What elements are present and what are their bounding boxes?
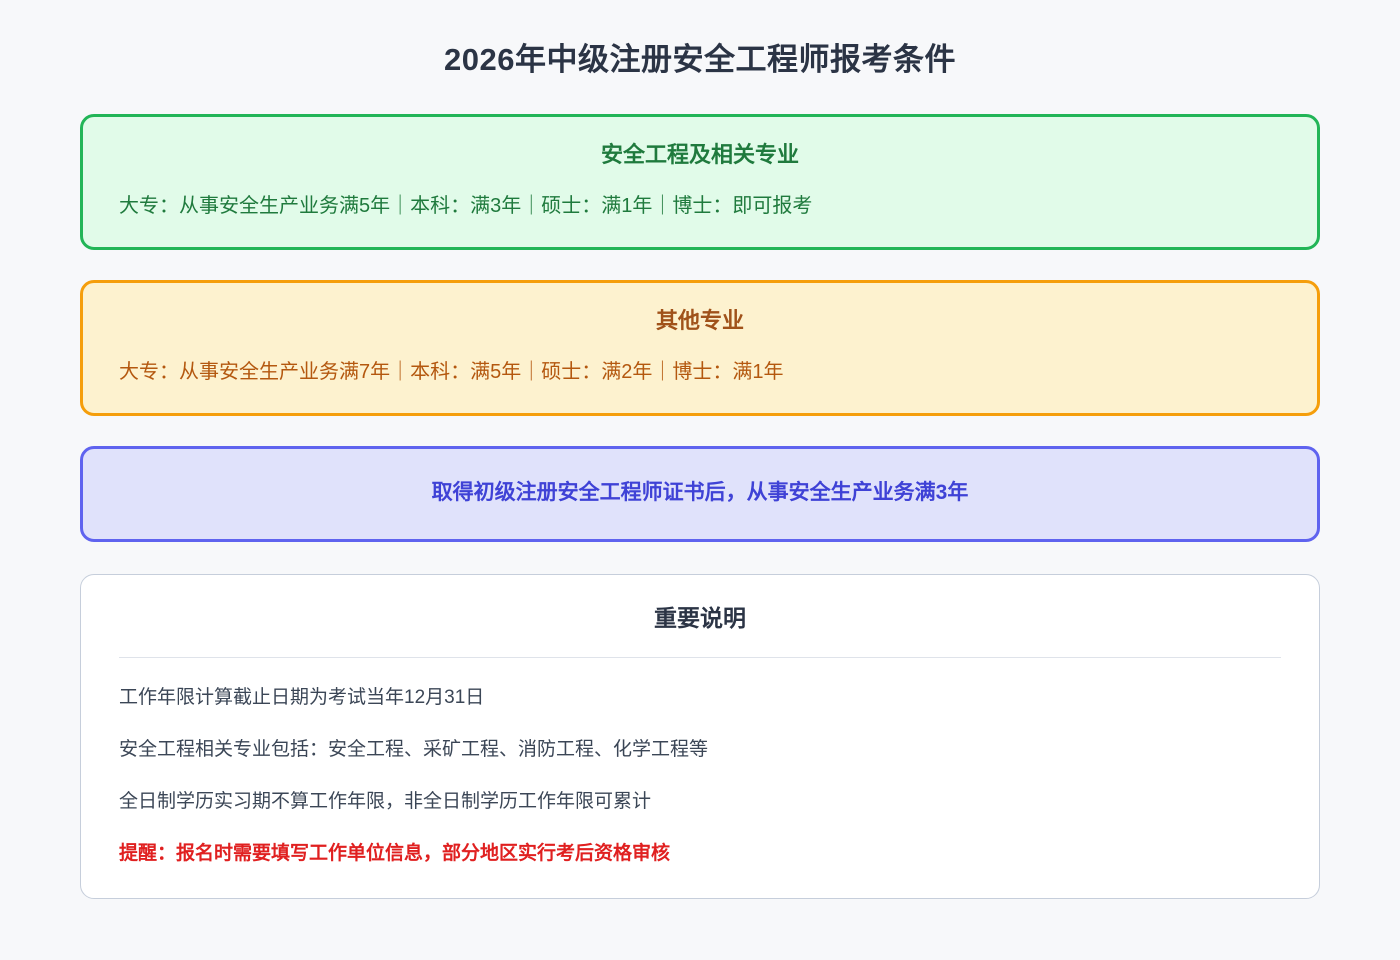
notes-card: 重要说明 工作年限计算截止日期为考试当年12月31日 安全工程相关专业包括：安全… [80, 574, 1320, 899]
condition-card-title: 取得初级注册安全工程师证书后，从事安全生产业务满3年 [119, 477, 1281, 509]
note-item: 工作年限计算截止日期为考试当年12月31日 [119, 684, 1281, 712]
condition-card-title: 其他专业 [119, 305, 1281, 337]
notes-title: 重要说明 [119, 601, 1281, 635]
condition-card-detail: 大专：从事安全生产业务满5年｜本科：满3年｜硕士：满1年｜博士：即可报考 [119, 191, 1281, 221]
condition-card-list: 安全工程及相关专业 大专：从事安全生产业务满5年｜本科：满3年｜硕士：满1年｜博… [0, 114, 1400, 542]
page-title: 2026年中级注册安全工程师报考条件 [0, 0, 1400, 80]
notes-divider [119, 657, 1281, 658]
page-root: 2026年中级注册安全工程师报考条件 安全工程及相关专业 大专：从事安全生产业务… [0, 0, 1400, 960]
note-item-warning: 提醒：报名时需要填写工作单位信息，部分地区实行考后资格审核 [119, 840, 1281, 868]
condition-card-safety-major: 安全工程及相关专业 大专：从事安全生产业务满5年｜本科：满3年｜硕士：满1年｜博… [80, 114, 1320, 250]
condition-card-title: 安全工程及相关专业 [119, 139, 1281, 171]
note-item: 安全工程相关专业包括：安全工程、采矿工程、消防工程、化学工程等 [119, 736, 1281, 764]
condition-card-detail: 大专：从事安全生产业务满7年｜本科：满5年｜硕士：满2年｜博士：满1年 [119, 357, 1281, 387]
condition-card-junior-certificate: 取得初级注册安全工程师证书后，从事安全生产业务满3年 [80, 446, 1320, 542]
condition-card-other-major: 其他专业 大专：从事安全生产业务满7年｜本科：满5年｜硕士：满2年｜博士：满1年 [80, 280, 1320, 416]
note-item: 全日制学历实习期不算工作年限，非全日制学历工作年限可累计 [119, 788, 1281, 816]
